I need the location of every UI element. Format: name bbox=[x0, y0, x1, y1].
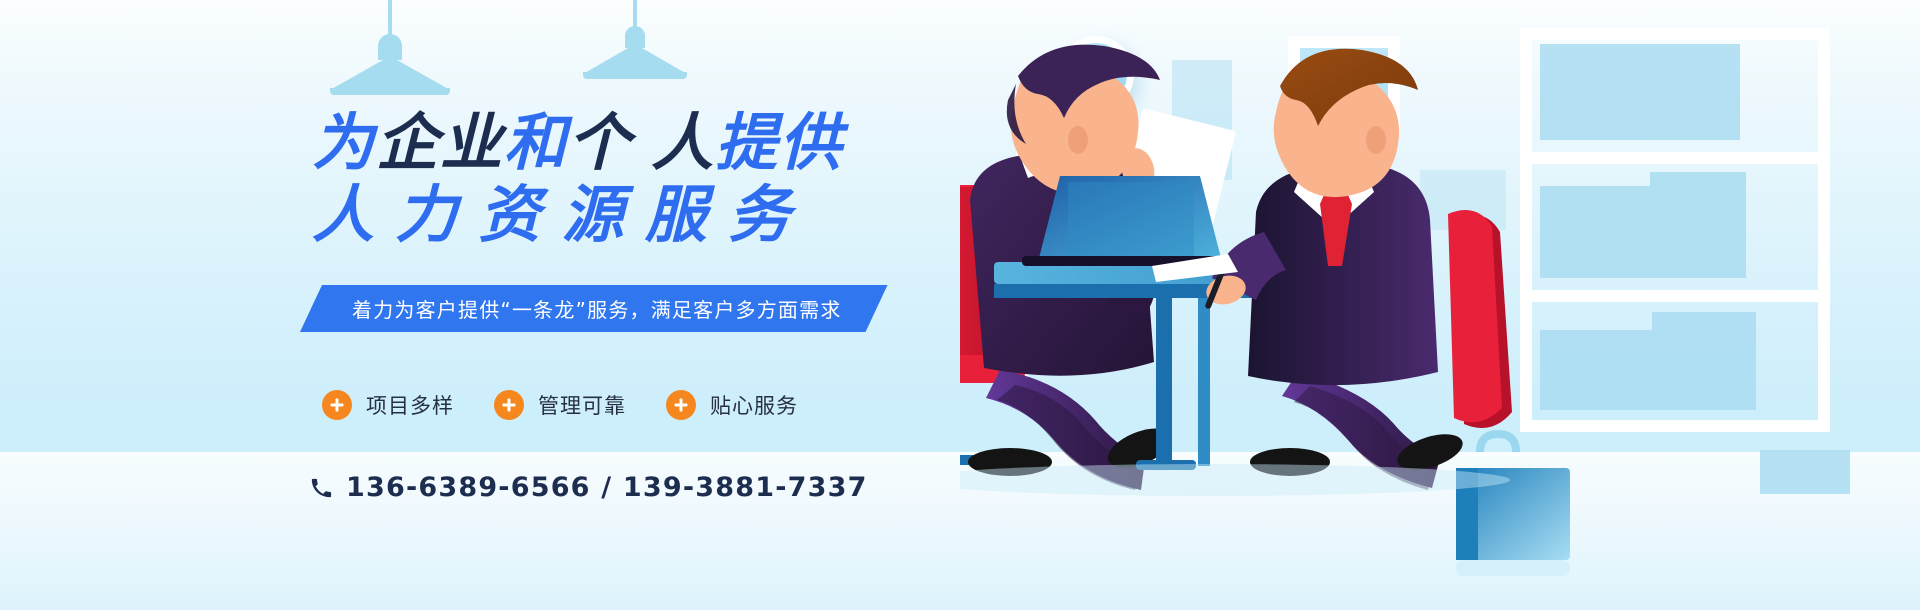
headline-part-1: 为 bbox=[312, 109, 376, 178]
feature-item[interactable]: 贴心服务 bbox=[666, 390, 798, 420]
phone-number: 136-6389-6566 / 139-3881-7337 bbox=[346, 472, 868, 503]
hero-banner: 为企业和个 人提供 人 力 资 源 服 务 着力为客户提供“一条龙”服务，满足客… bbox=[0, 0, 1920, 610]
feature-label: 管理可靠 bbox=[538, 390, 626, 420]
headline-part-4: 个 人 bbox=[568, 109, 715, 178]
plus-icon bbox=[666, 390, 696, 420]
briefcase-handle bbox=[1480, 434, 1516, 452]
briefcase bbox=[1456, 434, 1570, 576]
plus-icon bbox=[494, 390, 524, 420]
feature-label: 贴心服务 bbox=[710, 390, 798, 420]
feature-list: 项目多样 管理可靠 贴心服务 bbox=[322, 390, 798, 420]
red-office-chair-right bbox=[1448, 210, 1512, 428]
feature-item[interactable]: 项目多样 bbox=[322, 390, 454, 420]
headline-line2: 人 力 资 源 服 务 bbox=[312, 180, 932, 252]
plus-icon bbox=[322, 390, 352, 420]
feature-item[interactable]: 管理可靠 bbox=[494, 390, 626, 420]
left-man-ear bbox=[1068, 126, 1088, 154]
phone-icon bbox=[310, 477, 332, 499]
headline-part-5: 提供 bbox=[715, 109, 843, 178]
right-man-ear bbox=[1366, 126, 1386, 154]
headline-part-2: 企业 bbox=[376, 109, 504, 178]
hero-copy: 为企业和个 人提供 人 力 资 源 服 务 着力为客户提供“一条龙”服务，满足客… bbox=[0, 0, 960, 610]
feature-label: 项目多样 bbox=[366, 390, 454, 420]
contact-phone[interactable]: 136-6389-6566 / 139-3881-7337 bbox=[310, 472, 868, 503]
headline-part-3: 和 bbox=[504, 109, 568, 178]
office-illustration bbox=[960, 0, 1920, 610]
headline-line1: 为企业和个 人提供 bbox=[312, 109, 843, 178]
subtitle-text: 着力为客户提供“一条龙”服务，满足客户多方面需求 bbox=[352, 294, 842, 323]
hero-headline: 为企业和个 人提供 人 力 资 源 服 务 bbox=[312, 108, 932, 252]
subtitle-banner: 着力为客户提供“一条龙”服务，满足客户多方面需求 bbox=[300, 285, 888, 332]
